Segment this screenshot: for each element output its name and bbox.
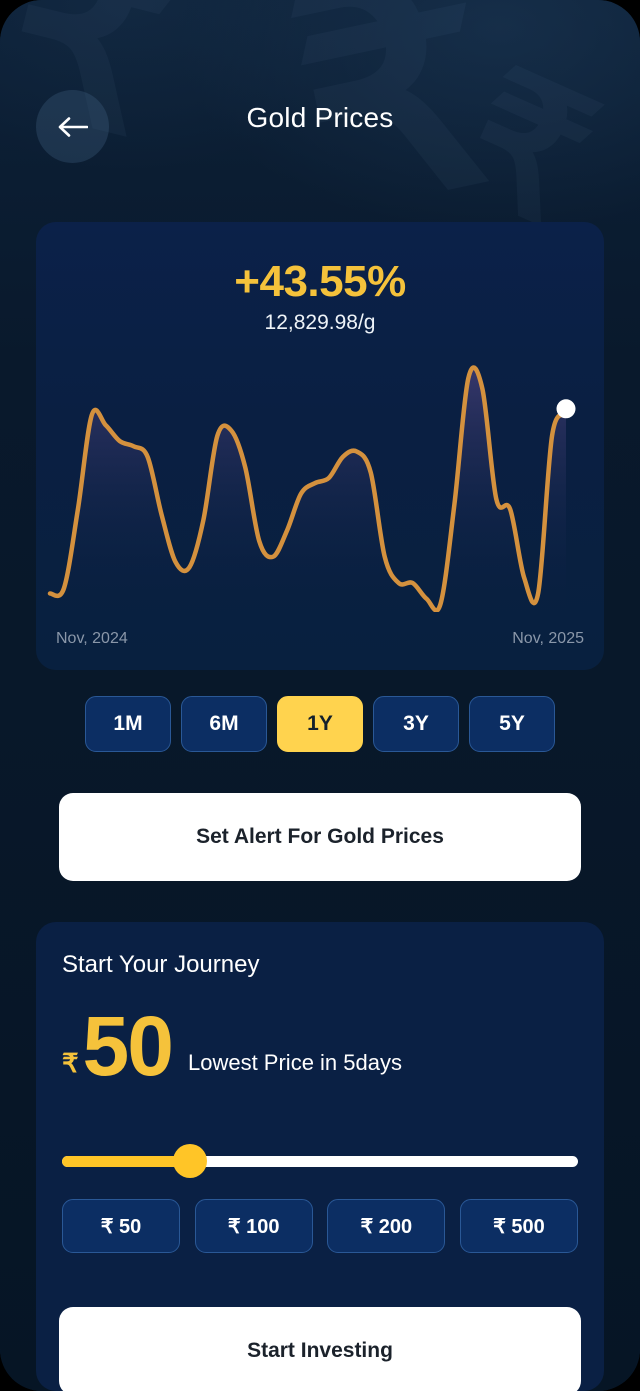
range-chip-5y[interactable]: 5Y — [469, 696, 555, 752]
start-investing-button[interactable]: Start Investing — [59, 1307, 581, 1391]
app-screen: ₹ ₹ ₹ Gold Prices +43.55% 12,829.98/g — [0, 0, 640, 1391]
price-per-gram: 12,829.98/g — [36, 311, 604, 335]
preset-amount-chip-0[interactable]: ₹ 50 — [62, 1199, 180, 1253]
range-chip-1m[interactable]: 1M — [85, 696, 171, 752]
set-alert-button[interactable]: Set Alert For Gold Prices — [59, 793, 581, 881]
price-chart-card: +43.55% 12,829.98/g Nov, 2024 Nov, 2025 — [36, 222, 604, 670]
range-chip-6m[interactable]: 6M — [181, 696, 267, 752]
amount-display: ₹ 50 Lowest Price in 5days — [62, 1004, 402, 1088]
range-chip-1y[interactable]: 1Y — [277, 696, 363, 752]
price-line-chart[interactable] — [36, 362, 604, 612]
amount-value: 50 — [83, 1004, 172, 1088]
app-header: Gold Prices — [0, 90, 640, 164]
amount-caption: Lowest Price in 5days — [188, 1050, 402, 1076]
change-percent: +43.55% — [36, 257, 604, 307]
chart-area-fill — [50, 368, 566, 612]
amount-slider[interactable] — [62, 1144, 578, 1178]
chart-start-label: Nov, 2024 — [56, 630, 128, 648]
slider-thumb[interactable] — [173, 1144, 207, 1178]
preset-amount-chip-2[interactable]: ₹ 200 — [327, 1199, 445, 1253]
range-selector: 1M6M1Y3Y5Y — [85, 696, 555, 752]
rupee-symbol-icon: ₹ — [62, 1050, 79, 1076]
range-chip-3y[interactable]: 3Y — [373, 696, 459, 752]
preset-amount-chip-1[interactable]: ₹ 100 — [195, 1199, 313, 1253]
preset-amount-chip-3[interactable]: ₹ 500 — [460, 1199, 578, 1253]
chart-end-label: Nov, 2025 — [512, 630, 584, 648]
journey-title: Start Your Journey — [62, 951, 259, 979]
preset-amount-list: ₹ 50₹ 100₹ 200₹ 500 — [62, 1199, 578, 1253]
chart-end-marker — [557, 399, 576, 418]
page-title: Gold Prices — [0, 102, 640, 134]
